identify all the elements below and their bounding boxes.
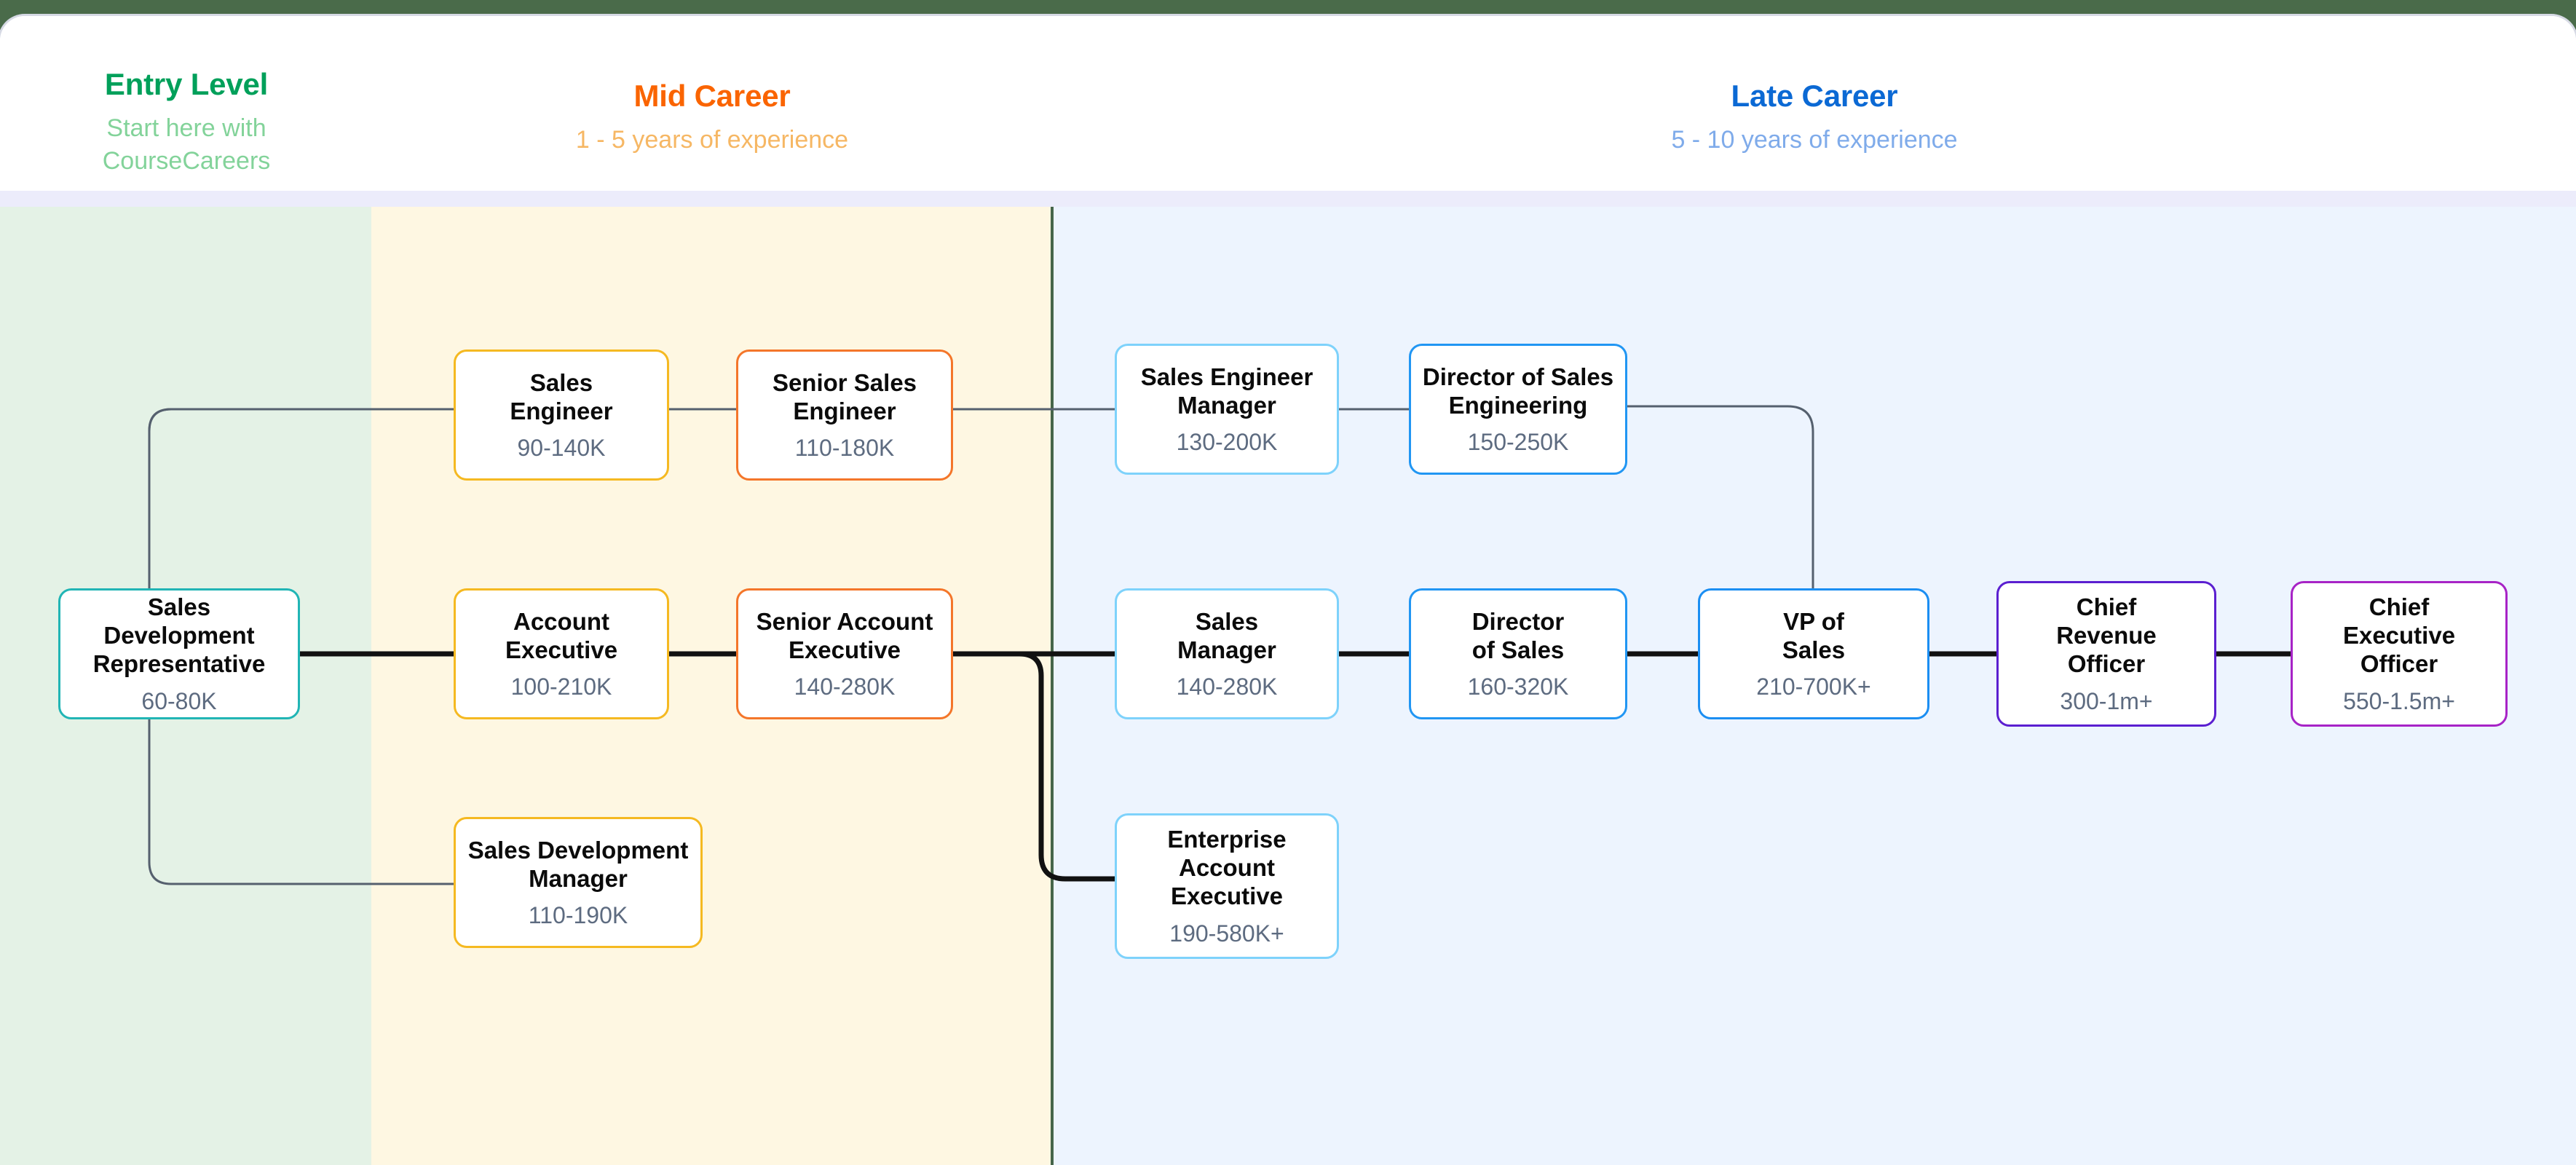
node-salary: 150-250K xyxy=(1468,428,1569,456)
node-salary: 550-1.5m+ xyxy=(2343,687,2455,715)
stage-subtitle-entry-level: Start here with CourseCareers xyxy=(0,112,373,178)
node-account-executive[interactable]: Account Executive 100-210K xyxy=(454,588,669,719)
stage-header-entry-level: Entry Level Start here with CourseCareer… xyxy=(0,67,373,178)
node-title: Enterprise Account Executive xyxy=(1167,825,1286,911)
node-title: Director of Sales Engineering xyxy=(1423,363,1613,420)
node-title: Sales Manager xyxy=(1177,607,1276,665)
node-sales-engineer-manager[interactable]: Sales Engineer Manager 130-200K xyxy=(1115,344,1339,475)
node-title: Director of Sales xyxy=(1472,607,1565,665)
node-sales-development-manager[interactable]: Sales Development Manager 110-190K xyxy=(454,817,703,948)
node-salary: 300-1m+ xyxy=(2060,687,2152,715)
node-salary: 90-140K xyxy=(518,434,606,462)
node-salary: 190-580K+ xyxy=(1169,920,1284,947)
stage-header-bar: Entry Level Start here with CourseCareer… xyxy=(0,16,2576,191)
node-title: VP of Sales xyxy=(1782,607,1845,665)
wire-senior-account-executive-to-enterprise-account-executive xyxy=(955,654,1115,879)
node-vp-of-sales[interactable]: VP of Sales 210-700K+ xyxy=(1698,588,1929,719)
stage-title-mid-career: Mid Career xyxy=(371,79,1053,114)
node-title: Chief Revenue Officer xyxy=(2056,593,2157,679)
node-salary: 110-190K xyxy=(529,901,628,929)
node-salary: 60-80K xyxy=(141,687,216,715)
node-director-of-sales[interactable]: Director of Sales 160-320K xyxy=(1409,588,1627,719)
node-salary: 210-700K+ xyxy=(1756,673,1870,700)
node-salary: 130-200K xyxy=(1177,428,1278,456)
node-salary: 140-280K xyxy=(794,673,896,700)
node-chief-revenue-officer[interactable]: Chief Revenue Officer 300-1m+ xyxy=(1996,581,2216,727)
node-title: Senior Account Executive xyxy=(756,607,933,665)
node-title: Account Executive xyxy=(505,607,617,665)
node-title: Chief Executive Officer xyxy=(2343,593,2455,679)
header-divider xyxy=(0,191,2576,207)
node-salary: 100-210K xyxy=(511,673,612,700)
node-sales-engineer[interactable]: Sales Engineer 90-140K xyxy=(454,349,669,481)
node-salary: 160-320K xyxy=(1468,673,1569,700)
node-title: Sales Development Manager xyxy=(468,836,689,893)
stage-header-late-career: Late Career 5 - 10 years of experience xyxy=(1053,79,2576,157)
node-chief-executive-officer[interactable]: Chief Executive Officer 550-1.5m+ xyxy=(2291,581,2508,727)
node-title: Sales Development Representative xyxy=(93,593,266,679)
node-title: Sales Engineer Manager xyxy=(1141,363,1313,420)
node-title: Senior Sales Engineer xyxy=(773,368,917,426)
node-title: Sales Engineer xyxy=(510,368,612,426)
stage-header-mid-career: Mid Career 1 - 5 years of experience xyxy=(371,79,1053,157)
stage-subtitle-late-career: 5 - 10 years of experience xyxy=(1053,124,2576,157)
career-path-diagram: Entry Level Start here with CourseCareer… xyxy=(0,16,2576,1165)
node-sales-manager[interactable]: Sales Manager 140-280K xyxy=(1115,588,1339,719)
node-salary: 140-280K xyxy=(1177,673,1278,700)
node-senior-sales-engineer[interactable]: Senior Sales Engineer 110-180K xyxy=(736,349,953,481)
node-salary: 110-180K xyxy=(795,434,894,462)
stage-subtitle-mid-career: 1 - 5 years of experience xyxy=(371,124,1053,157)
node-enterprise-account-executive[interactable]: Enterprise Account Executive 190-580K+ xyxy=(1115,813,1339,959)
node-sales-development-representative[interactable]: Sales Development Representative 60-80K xyxy=(58,588,300,719)
node-director-of-sales-engineering[interactable]: Director of Sales Engineering 150-250K xyxy=(1409,344,1627,475)
wire-director-of-sales-engineering-to-vp-of-sales xyxy=(1627,406,1813,591)
stage-title-late-career: Late Career xyxy=(1053,79,2576,114)
node-senior-account-executive[interactable]: Senior Account Executive 140-280K xyxy=(736,588,953,719)
stage-title-entry-level: Entry Level xyxy=(0,67,373,102)
